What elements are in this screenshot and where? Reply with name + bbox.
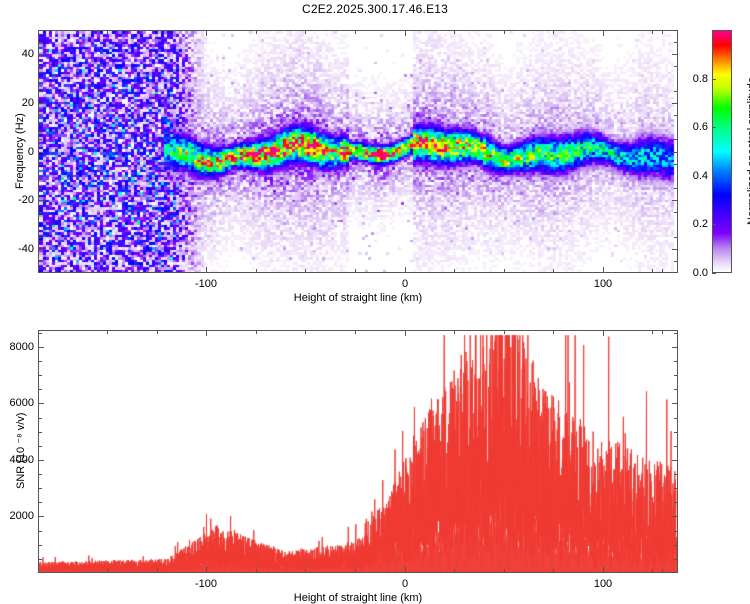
ytick-minor: [38, 91, 42, 92]
xticklabel: -100: [195, 578, 217, 590]
yticklabel: 2000: [6, 510, 34, 522]
ytick-minor-right: [674, 375, 678, 376]
ytick-minor: [38, 516, 42, 517]
snr-panel: [38, 330, 678, 573]
ytick-major: [38, 54, 44, 55]
xticklabel: -100: [195, 278, 217, 290]
ytick-minor: [38, 237, 42, 238]
ytick-minor-right: [674, 115, 678, 116]
xtick-minor-top: [355, 30, 356, 34]
xtick-minor-top: [652, 330, 653, 334]
ytick-minor: [38, 375, 42, 376]
ytick-minor-right: [674, 488, 678, 489]
ytick-major: [38, 249, 44, 250]
ytick-minor-right: [674, 212, 678, 213]
ytick-minor: [38, 347, 42, 348]
xticklabel: 100: [594, 278, 612, 290]
ytick-minor: [38, 139, 42, 140]
ytick-minor-right: [674, 531, 678, 532]
xtick-minor-top: [256, 30, 257, 34]
xtick-minor-top: [206, 330, 207, 334]
ytick-minor-right: [674, 516, 678, 517]
ytick-minor: [38, 66, 42, 67]
ytick-minor-right: [674, 502, 678, 503]
xticklabel: 100: [594, 578, 612, 590]
xtick-minor: [454, 269, 455, 273]
xtick-minor-top: [652, 30, 653, 34]
spectrogram-panel: [38, 30, 678, 273]
yticklabel: 8000: [6, 341, 34, 353]
ytick-major-right: [672, 54, 678, 55]
xtick-minor-top: [305, 30, 306, 34]
xtick-minor: [603, 269, 604, 273]
figure-title: C2E2.2025.300.17.46.E13: [0, 2, 750, 16]
yticklabel: 6000: [6, 397, 34, 409]
xtick-minor-top: [206, 30, 207, 34]
xtick-minor-top: [662, 30, 663, 34]
ytick-minor: [38, 164, 42, 165]
ytick-minor: [38, 474, 42, 475]
yticklabel: -40: [6, 243, 34, 255]
ytick-minor: [38, 488, 42, 489]
xtick-minor: [355, 569, 356, 573]
xticklabel: 0: [402, 578, 408, 590]
colorbar-tick: [712, 273, 716, 274]
snr-plot-area: [39, 331, 677, 572]
ytick-minor: [38, 115, 42, 116]
xtick-minor: [652, 569, 653, 573]
colorbar-gradient: [713, 31, 731, 272]
figure-root: C2E2.2025.300.17.46.E13 -1000100-40-2002…: [0, 0, 750, 600]
xtick-minor-top: [157, 30, 158, 34]
xtick-minor: [256, 269, 257, 273]
spectrogram-image: [39, 31, 677, 272]
ytick-minor-right: [674, 460, 678, 461]
ytick-minor-right: [674, 545, 678, 546]
xtick-minor: [305, 269, 306, 273]
ytick-minor-right: [674, 418, 678, 419]
ytick-minor: [38, 460, 42, 461]
xtick-minor: [504, 269, 505, 273]
xtick-minor: [405, 569, 406, 573]
xtick-minor-top: [603, 30, 604, 34]
colorbar-ticklabel: 0.0: [686, 267, 708, 279]
ytick-minor-right: [674, 188, 678, 189]
ytick-major: [38, 152, 44, 153]
ytick-minor-right: [674, 559, 678, 560]
xtick-minor-top: [107, 330, 108, 334]
ytick-major-right: [672, 103, 678, 104]
ytick-minor-right: [674, 333, 678, 334]
xtick-minor-top: [405, 330, 406, 334]
snr-ylabel: SNR (10 ⁻⁸ v/v): [14, 413, 27, 489]
ytick-minor-right: [674, 403, 678, 404]
xtick-minor: [553, 569, 554, 573]
yticklabel: 20: [6, 97, 34, 109]
xtick-minor-top: [504, 30, 505, 34]
ytick-minor: [38, 333, 42, 334]
ytick-minor-right: [674, 139, 678, 140]
xtick-minor-top: [256, 330, 257, 334]
ytick-minor-right: [674, 164, 678, 165]
colorbar-tick: [712, 79, 716, 80]
ytick-minor-right: [674, 347, 678, 348]
xtick-minor-top: [553, 30, 554, 34]
colorbar: [712, 30, 732, 273]
ytick-major-right: [672, 200, 678, 201]
ytick-minor-right: [674, 261, 678, 262]
xtick-minor-top: [553, 330, 554, 334]
xtick-minor: [603, 569, 604, 573]
ytick-major: [38, 103, 44, 104]
ytick-minor-right: [674, 446, 678, 447]
ytick-minor: [38, 42, 42, 43]
spectrogram-plot-area: [39, 31, 677, 272]
xtick-minor-top: [454, 30, 455, 34]
ytick-minor-right: [674, 389, 678, 390]
xtick-minor-top: [603, 330, 604, 334]
xtick-minor: [662, 269, 663, 273]
snr-xlabel: Height of straight line (km): [294, 592, 422, 604]
colorbar-ticklabel: 0.4: [686, 170, 708, 182]
xtick-minor-top: [405, 30, 406, 34]
xtick-minor-top: [504, 330, 505, 334]
ytick-minor: [38, 432, 42, 433]
colorbar-label: Normalized spectral amplitude: [746, 77, 750, 225]
xtick-minor: [157, 269, 158, 273]
ytick-minor: [38, 545, 42, 546]
xtick-minor: [107, 269, 108, 273]
ytick-minor-right: [674, 361, 678, 362]
xtick-minor: [157, 569, 158, 573]
ytick-major-right: [672, 152, 678, 153]
xtick-minor-top: [454, 330, 455, 334]
ytick-minor-right: [674, 474, 678, 475]
ytick-minor: [38, 502, 42, 503]
ytick-minor: [38, 261, 42, 262]
ytick-minor: [38, 418, 42, 419]
ytick-minor: [38, 446, 42, 447]
ytick-minor: [38, 212, 42, 213]
xtick-minor: [652, 269, 653, 273]
xtick-minor: [504, 569, 505, 573]
xtick-minor: [553, 269, 554, 273]
ytick-minor: [38, 188, 42, 189]
xtick-minor: [206, 269, 207, 273]
xtick-minor-top: [662, 330, 663, 334]
colorbar-tick: [712, 127, 716, 128]
ytick-minor: [38, 361, 42, 362]
ytick-minor-right: [674, 91, 678, 92]
colorbar-tick: [712, 224, 716, 225]
xtick-minor-top: [107, 30, 108, 34]
ytick-minor: [38, 559, 42, 560]
xtick-minor-top: [355, 330, 356, 334]
colorbar-ticklabel: 0.2: [686, 218, 708, 230]
ytick-minor-right: [674, 432, 678, 433]
xtick-minor: [305, 569, 306, 573]
xticklabel: 0: [402, 278, 408, 290]
xtick-minor: [206, 569, 207, 573]
ytick-major-right: [672, 249, 678, 250]
yticklabel: 40: [6, 48, 34, 60]
xtick-minor: [107, 569, 108, 573]
ytick-minor-right: [674, 66, 678, 67]
ytick-minor-right: [674, 237, 678, 238]
xtick-minor-top: [157, 330, 158, 334]
ytick-minor: [38, 403, 42, 404]
xtick-minor: [256, 569, 257, 573]
yticklabel: -20: [6, 194, 34, 206]
ytick-minor: [38, 389, 42, 390]
colorbar-ticklabel: 0.6: [686, 121, 708, 133]
snr-line-series: [39, 331, 677, 572]
xtick-minor: [454, 569, 455, 573]
ytick-minor: [38, 531, 42, 532]
xtick-minor-top: [305, 330, 306, 334]
spectrogram-ylabel: Frequency (Hz): [14, 113, 26, 189]
spectrogram-xlabel: Height of straight line (km): [294, 292, 422, 304]
colorbar-tick: [712, 176, 716, 177]
ytick-major: [38, 200, 44, 201]
ytick-minor-right: [674, 42, 678, 43]
colorbar-ticklabel: 0.8: [686, 73, 708, 85]
xtick-minor: [355, 269, 356, 273]
xtick-minor: [662, 569, 663, 573]
xtick-minor: [405, 269, 406, 273]
